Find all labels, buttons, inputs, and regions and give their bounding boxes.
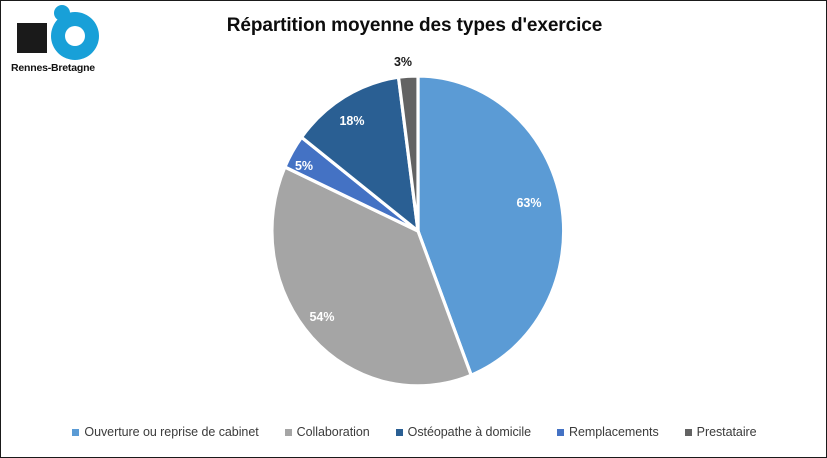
slice-value-label-prestataire: 3%	[394, 55, 412, 69]
legend-swatch-icon	[285, 429, 292, 436]
legend-label: Prestataire	[697, 425, 757, 439]
legend-swatch-icon	[396, 429, 403, 436]
legend-swatch-icon	[72, 429, 79, 436]
legend-swatch-icon	[685, 429, 692, 436]
logo-caption: Rennes-Bretagne	[11, 62, 111, 74]
chart-title: Répartition moyenne des types d'exercice	[1, 15, 827, 37]
legend-item-prestataire[interactable]: Prestataire	[685, 425, 757, 439]
slice-value-label-collaboration: 54%	[309, 310, 334, 324]
legend-label: Collaboration	[297, 425, 370, 439]
legend-item-osteopathe[interactable]: Ostéopathe à domicile	[396, 425, 531, 439]
chart-legend: Ouverture ou reprise de cabinet Collabor…	[1, 425, 827, 439]
legend-label: Ostéopathe à domicile	[408, 425, 531, 439]
pie-chart: 63% 54% 5% 18% 3%	[256, 67, 586, 389]
slice-value-label-osteopathe: 18%	[339, 114, 364, 128]
slice-value-label-remplacements: 5%	[295, 159, 313, 173]
legend-label: Ouverture ou reprise de cabinet	[84, 425, 258, 439]
legend-item-collaboration[interactable]: Collaboration	[285, 425, 370, 439]
legend-item-remplacements[interactable]: Remplacements	[557, 425, 659, 439]
slice-value-label-ouverture: 63%	[516, 196, 541, 210]
legend-label: Remplacements	[569, 425, 659, 439]
chart-page-frame: Rennes-Bretagne Répartition moyenne des …	[0, 0, 827, 458]
pie-chart-svg: 63% 54% 5% 18% 3%	[256, 67, 586, 389]
legend-swatch-icon	[557, 429, 564, 436]
legend-item-ouverture[interactable]: Ouverture ou reprise de cabinet	[72, 425, 258, 439]
